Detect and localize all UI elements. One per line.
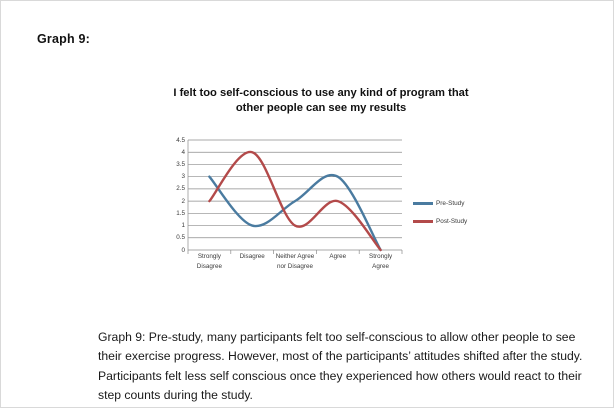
x-axis: Strongly DisagreeDisagreeNeither Agree n… (188, 252, 402, 298)
x-tick-label: Strongly Agree (359, 252, 402, 298)
legend-label: Pre-Study (436, 200, 464, 207)
chart-legend: Pre-StudyPost-Study (413, 194, 495, 230)
legend-label: Post-Study (436, 218, 467, 225)
legend-swatch-icon (413, 220, 433, 223)
x-tick-label: Agree (316, 252, 359, 298)
page-title: Graph 9: (37, 32, 90, 46)
x-tick-label: Disagree (231, 252, 274, 298)
chart-svg (159, 136, 405, 261)
legend-item: Post-Study (413, 212, 495, 230)
figure-caption: Graph 9: Pre-study, many participants fe… (98, 328, 584, 405)
legend-swatch-icon (413, 202, 433, 205)
series-line-pre-study (209, 175, 380, 250)
chart-container: I felt too self-conscious to use any kin… (159, 86, 495, 301)
x-tick-label: Strongly Disagree (188, 252, 231, 298)
plot-area (159, 136, 405, 261)
x-tick-label: Neither Agree nor Disagree (274, 252, 317, 298)
legend-item: Pre-Study (413, 194, 495, 212)
document-page: Graph 9: I felt too self-conscious to us… (0, 0, 614, 408)
chart-title: I felt too self-conscious to use any kin… (171, 86, 471, 116)
